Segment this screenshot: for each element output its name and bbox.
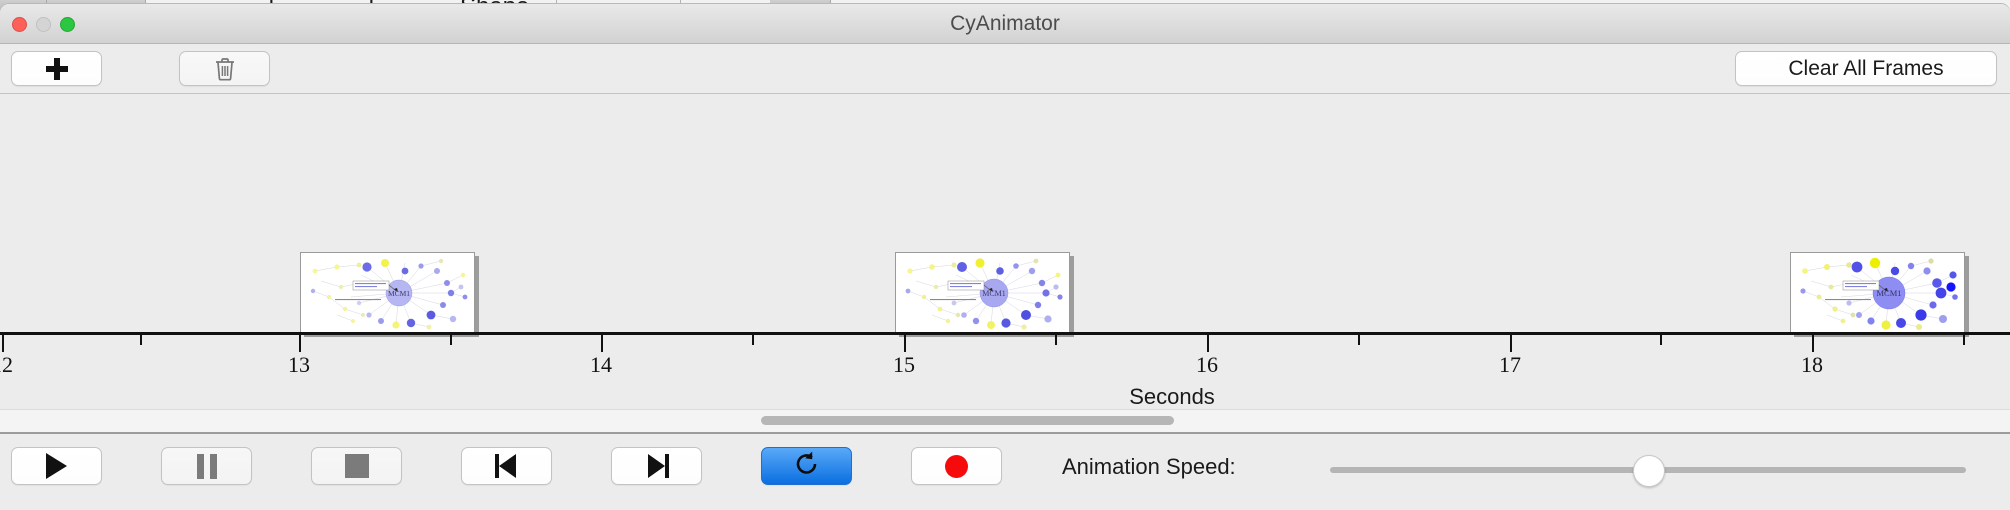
axis-minor-tick — [1963, 335, 1965, 345]
timeline-scrollbar-track[interactable] — [0, 409, 2010, 432]
play-icon — [46, 453, 67, 479]
pause-icon — [197, 454, 217, 479]
timeline-axis — [0, 332, 2010, 335]
record-button[interactable] — [911, 447, 1002, 485]
frame-thumbnail-3[interactable]: MCM1 — [1790, 252, 1965, 333]
add-frame-button[interactable] — [11, 51, 102, 86]
axis-major-tick — [1207, 335, 1209, 352]
axis-tick-label: 18 — [1801, 352, 1823, 378]
trash-icon — [214, 57, 236, 81]
axis-major-tick — [1510, 335, 1512, 352]
axis-major-tick — [1812, 335, 1814, 352]
network-node-label: MCM1 — [1876, 288, 1901, 298]
axis-minor-tick — [140, 335, 142, 345]
stop-button[interactable] — [311, 447, 402, 485]
cyanimator-window: CyAnimator Clear All Frames — [0, 4, 2010, 510]
clear-all-frames-button[interactable]: Clear All Frames — [1735, 51, 1997, 86]
skip-to-start-icon — [495, 454, 519, 478]
axis-minor-tick — [1055, 335, 1057, 345]
animation-speed-slider-thumb[interactable] — [1633, 455, 1665, 487]
axis-major-tick — [2, 335, 4, 352]
stop-icon — [345, 454, 369, 478]
axis-minor-tick — [450, 335, 452, 345]
axis-tick-label: 15 — [893, 352, 915, 378]
network-node-label: MCM1 — [388, 289, 410, 298]
skip-to-end-icon — [645, 454, 669, 478]
axis-major-tick — [299, 335, 301, 352]
window-titlebar[interactable]: CyAnimator — [0, 4, 2010, 44]
axis-major-tick — [904, 335, 906, 352]
playback-control-bar: Animation Speed: — [0, 432, 2010, 510]
skip-to-start-button[interactable] — [461, 447, 552, 485]
horizontal-scrollbar[interactable] — [761, 416, 1174, 425]
axis-minor-tick — [1358, 335, 1360, 345]
network-thumbnail-graphic: MCM1 — [301, 253, 474, 332]
axis-tick-label: 13 — [288, 352, 310, 378]
frame-thumbnail-2[interactable]: MCM1 — [895, 252, 1070, 333]
axis-minor-tick — [1660, 335, 1662, 345]
window-title: CyAnimator — [0, 12, 2010, 36]
skip-to-end-button[interactable] — [611, 447, 702, 485]
loop-icon — [794, 451, 820, 482]
axis-title: Seconds — [1129, 384, 1215, 409]
frame-toolbar: Clear All Frames — [0, 44, 2010, 94]
axis-tick-label: 14 — [590, 352, 612, 378]
axis-tick-label: 16 — [1196, 352, 1218, 378]
pause-button[interactable] — [161, 447, 252, 485]
plus-icon — [46, 58, 68, 80]
axis-minor-tick — [752, 335, 754, 345]
play-button[interactable] — [11, 447, 102, 485]
cyanimator-screenshot: | | Shape CyAnimator — [0, 0, 2010, 510]
frame-thumbnail-1[interactable]: MCM1 — [300, 252, 475, 333]
network-thumbnail-graphic: MCM1 — [1791, 253, 1964, 332]
axis-major-tick — [601, 335, 603, 352]
animation-speed-label: Animation Speed: — [1062, 454, 1236, 480]
network-thumbnail-graphic: MCM1 — [896, 253, 1069, 332]
record-icon — [945, 455, 968, 478]
loop-button[interactable] — [761, 447, 852, 485]
network-node-label: MCM1 — [982, 289, 1006, 298]
axis-tick-label: 17 — [1499, 352, 1521, 378]
delete-frame-button[interactable] — [179, 51, 270, 86]
timeline-panel[interactable]: MCM1 — [0, 94, 2010, 409]
axis-tick-label: 12 — [0, 352, 13, 378]
